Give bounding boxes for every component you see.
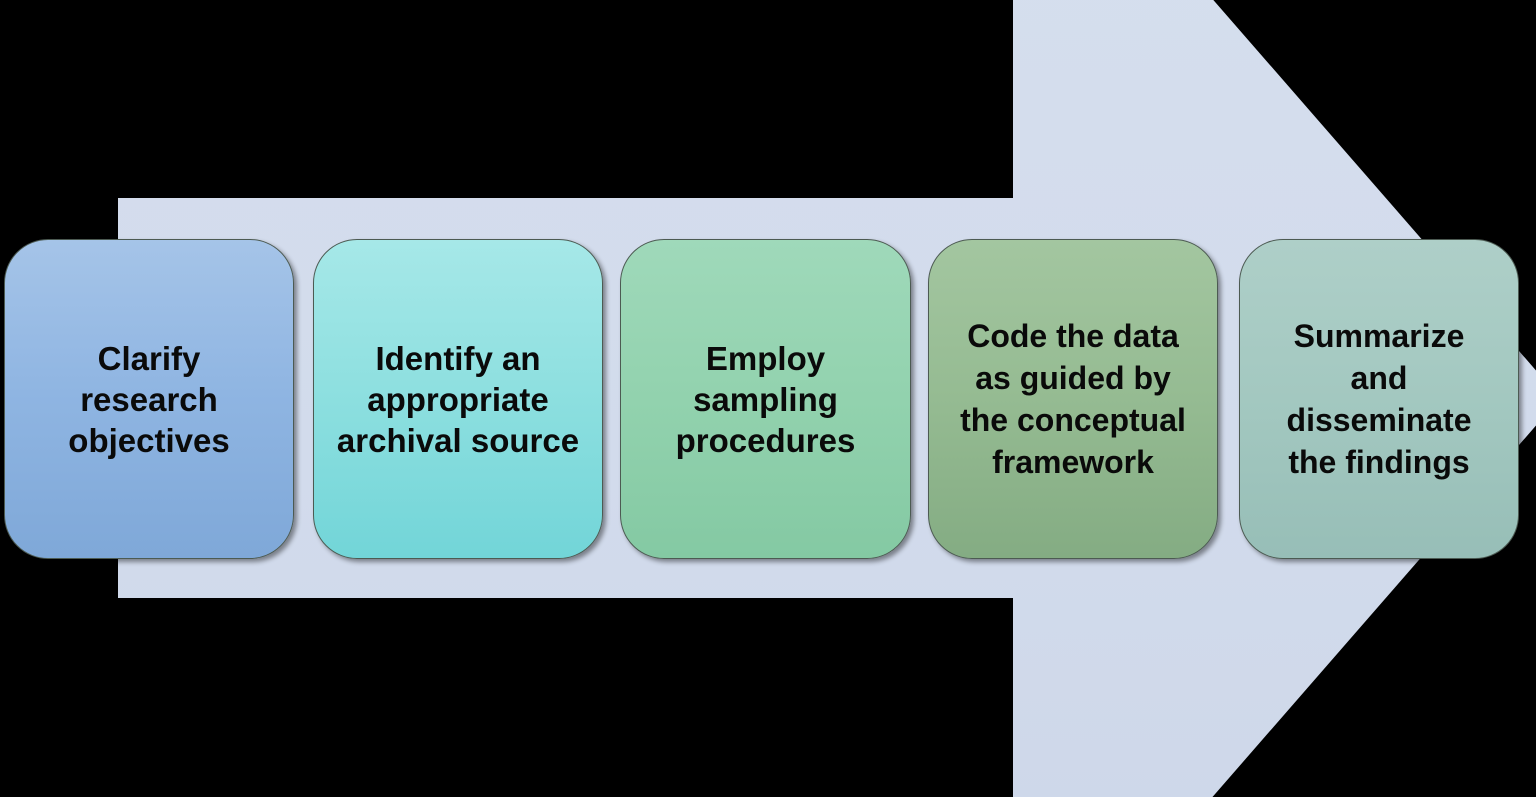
step-clarify-research-objectives[interactable]: Clarify research objectives [4, 239, 294, 559]
step-label-5: Summarize and disseminate the findings [1240, 315, 1518, 483]
step-label-2: Identify an appropriate archival source [314, 338, 602, 461]
step-summarize-and-disseminate[interactable]: Summarize and disseminate the findings [1239, 239, 1519, 559]
diagram-canvas: Clarify research objectives Identify an … [0, 0, 1536, 797]
process-step-list: Clarify research objectives Identify an … [0, 239, 1536, 559]
step-employ-sampling-procedures[interactable]: Employ sampling procedures [620, 239, 911, 559]
step-label-3: Employ sampling procedures [621, 338, 910, 461]
step-label-1: Clarify research objectives [5, 338, 293, 461]
step-code-the-data[interactable]: Code the data as guided by the conceptua… [928, 239, 1218, 559]
step-label-4: Code the data as guided by the conceptua… [929, 315, 1217, 483]
step-identify-archival-source[interactable]: Identify an appropriate archival source [313, 239, 603, 559]
